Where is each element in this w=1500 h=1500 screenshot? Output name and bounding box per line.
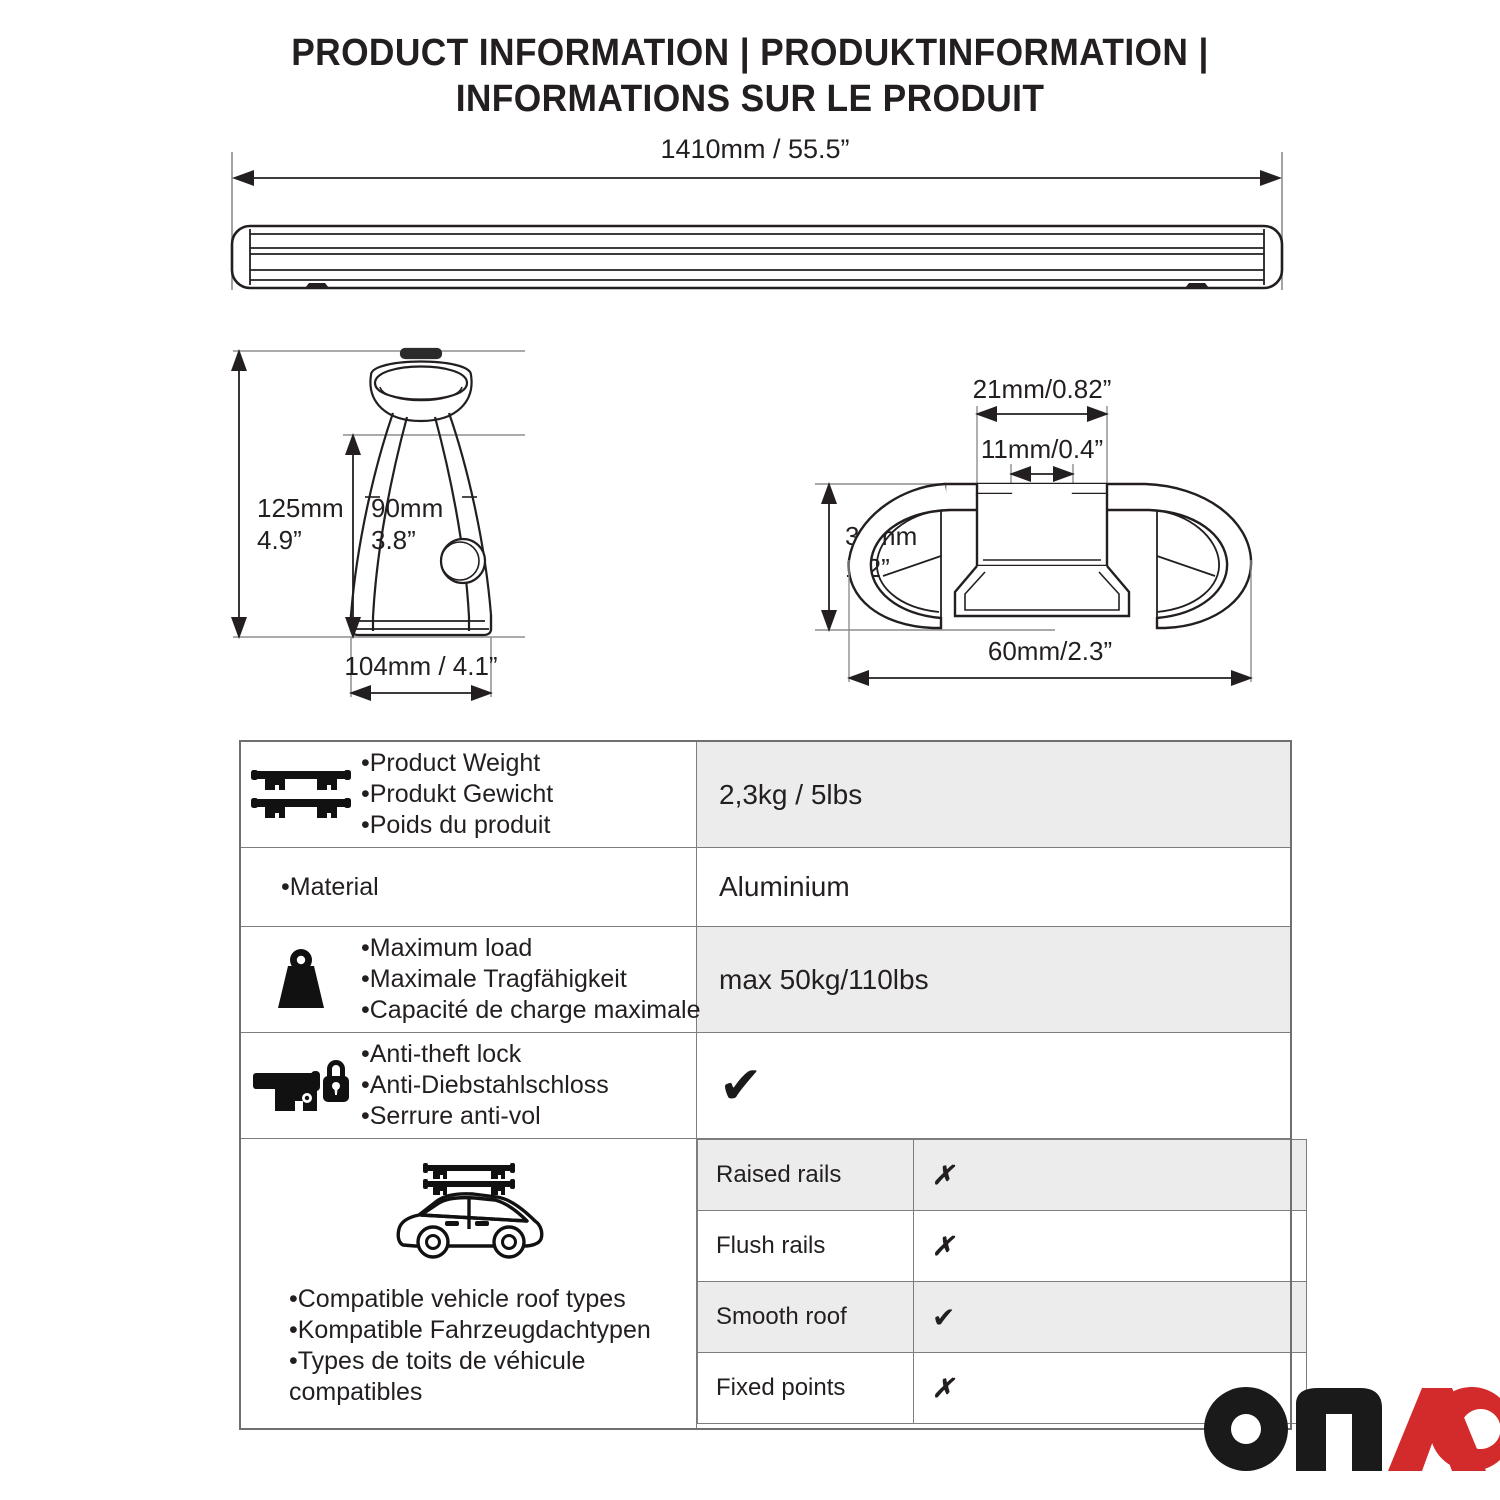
cross-icon: ✗ (932, 1373, 954, 1403)
roof-type-name: Smooth roof (698, 1282, 914, 1353)
crossbar-drawing (232, 226, 1282, 288)
label-line: •Serrure anti-vol (361, 1101, 609, 1132)
label-line: •Product Weight (361, 748, 553, 779)
compat-label-lines: •Compatible vehicle roof types •Kompatib… (241, 1284, 689, 1408)
spec-label-cell: •Material (240, 848, 697, 927)
foot-drawing (351, 349, 491, 635)
profile-drawing (849, 484, 1251, 628)
bar-length-label: 1410mm / 55.5” (660, 134, 849, 164)
check-icon: ✔ (932, 1302, 955, 1333)
car-with-rack-icon (385, 1159, 553, 1274)
spec-value: 2,3kg / 5lbs (719, 779, 862, 810)
label-line: •Capacité de charge maximale (361, 995, 700, 1026)
slot-outer-label: 21mm/0.82” (973, 374, 1112, 404)
title-line-1: PRODUCT INFORMATION | PRODUKTINFORMATION… (252, 30, 1247, 76)
roof-type-mark: ✗ (914, 1211, 1307, 1282)
anti-theft-check-icon: ✔ (719, 1060, 763, 1112)
table-row: •Compatible vehicle roof types •Kompatib… (240, 1139, 1291, 1430)
label-line: •Anti-theft lock (361, 1039, 609, 1070)
spec-label-lines: •Product Weight •Produkt Gewicht •Poids … (361, 748, 553, 841)
table-row: •Product Weight •Produkt Gewicht •Poids … (240, 741, 1291, 848)
table-row: •Maximum load •Maximale Tragfähigkeit •C… (240, 927, 1291, 1033)
label-line: •Maximale Tragfähigkeit (361, 964, 700, 995)
spec-label-cell: •Anti-theft lock •Anti-Diebstahlschloss … (240, 1033, 697, 1139)
foot-total-height-mm: 125mm (257, 493, 344, 523)
foot-inner-height-in: 3.8” (371, 525, 416, 555)
spec-value-cell: ✔ (697, 1033, 1292, 1139)
profile-width-label: 60mm/2.3” (988, 636, 1112, 666)
cross-icon: ✗ (932, 1160, 954, 1190)
profile-cross-section-diagram: 21mm/0.82” 11mm/0.4” 30mm 1.2” (805, 360, 1295, 705)
spec-label-cell: •Product Weight •Produkt Gewicht •Poids … (240, 741, 697, 848)
compat-label-cell: •Compatible vehicle roof types •Kompatib… (240, 1139, 697, 1430)
foot-dimension-diagram: 125mm 4.9” 90mm 3.8” (225, 345, 725, 705)
label-line: •Types de toits de véhicule compatibles (289, 1346, 689, 1408)
lock-icon (241, 1053, 361, 1119)
roof-type-row: Flush rails ✗ (698, 1211, 1307, 1282)
foot-total-height-in: 4.9” (257, 525, 302, 555)
spec-value-cell: max 50kg/110lbs (697, 927, 1292, 1033)
spec-label-cell: •Maximum load •Maximale Tragfähigkeit •C… (240, 927, 697, 1033)
spec-value: Aluminium (719, 871, 850, 902)
table-row: •Anti-theft lock •Anti-Diebstahlschloss … (240, 1033, 1291, 1139)
label-line: •Material (281, 872, 379, 903)
roof-type-name: Flush rails (698, 1211, 914, 1282)
spec-label-lines: •Maximum load •Maximale Tragfähigkeit •C… (361, 933, 700, 1026)
table-row: •Material Aluminium (240, 848, 1291, 927)
roof-type-name: Fixed points (698, 1353, 914, 1424)
roof-type-name: Raised rails (698, 1140, 914, 1211)
roof-type-mark: ✗ (914, 1140, 1307, 1211)
spec-label-lines: •Material (281, 872, 379, 903)
crossbar-length-diagram: 1410mm / 55.5” (210, 130, 1300, 320)
foot-inner-height-mm: 90mm (371, 493, 443, 523)
label-line: •Kompatible Fahrzeugdachtypen (289, 1315, 689, 1346)
label-line: •Maximum load (361, 933, 700, 964)
product-spec-table: •Product Weight •Produkt Gewicht •Poids … (239, 740, 1292, 1430)
title-line-2: INFORMATIONS SUR LE PRODUIT (252, 76, 1247, 122)
foot-width-label: 104mm / 4.1” (344, 651, 497, 681)
weight-icon (241, 944, 361, 1016)
omac-logo (1200, 1386, 1500, 1472)
slot-inner-label: 11mm/0.4” (981, 434, 1103, 464)
spec-value-cell: 2,3kg / 5lbs (697, 741, 1292, 848)
spec-label-lines: •Anti-theft lock •Anti-Diebstahlschloss … (361, 1039, 609, 1132)
spec-value: max 50kg/110lbs (719, 964, 929, 995)
roof-type-row: Raised rails ✗ (698, 1140, 1307, 1211)
spec-value-cell: Aluminium (697, 848, 1292, 927)
label-line: •Compatible vehicle roof types (289, 1284, 689, 1315)
cross-icon: ✗ (932, 1231, 954, 1261)
label-line: •Poids du produit (361, 810, 553, 841)
crossbars-icon (241, 765, 361, 825)
roof-type-mark: ✔ (914, 1282, 1307, 1353)
roof-type-row: Smooth roof ✔ (698, 1282, 1307, 1353)
label-line: •Anti-Diebstahlschloss (361, 1070, 609, 1101)
page-title: PRODUCT INFORMATION | PRODUKTINFORMATION… (215, 0, 1285, 122)
label-line: •Produkt Gewicht (361, 779, 553, 810)
roof-type-table: Raised rails ✗ Flush rails ✗ (697, 1139, 1307, 1424)
